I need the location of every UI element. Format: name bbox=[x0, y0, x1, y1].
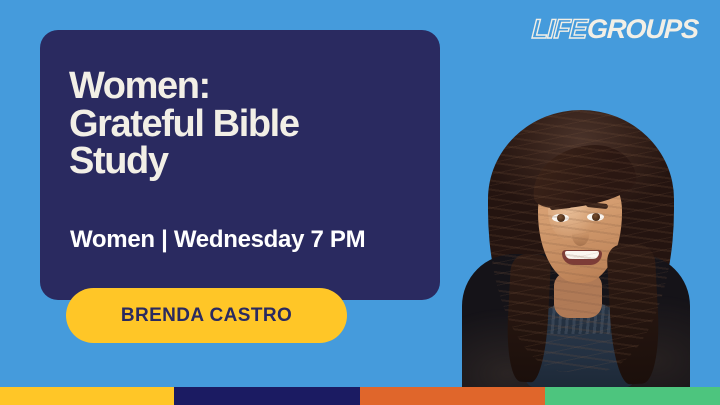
color-bar-segment-yellow bbox=[0, 387, 174, 405]
event-card: Women: Grateful Bible Study Women | Wedn… bbox=[40, 30, 440, 300]
color-bar-segment-navy bbox=[174, 387, 360, 405]
color-bar-segment-green bbox=[545, 387, 720, 405]
logo-life-text: LIFE bbox=[532, 16, 588, 43]
leader-photo-illustration bbox=[462, 104, 690, 387]
color-bar-segment-orange bbox=[360, 387, 545, 405]
leader-name-label: BRENDA CASTRO bbox=[121, 305, 292, 327]
lifegroups-logo: LIFEGROUPS bbox=[532, 16, 698, 43]
logo-groups-text: GROUPS bbox=[586, 16, 698, 43]
brand-color-bar bbox=[0, 387, 720, 405]
event-subtitle: Women | Wednesday 7 PM bbox=[70, 226, 365, 254]
event-title: Women: Grateful Bible Study bbox=[69, 68, 409, 181]
hair-strand-texture bbox=[488, 110, 674, 372]
leader-photo bbox=[462, 104, 690, 387]
leader-name-button[interactable]: BRENDA CASTRO bbox=[66, 288, 347, 343]
promo-graphic: LIFEGROUPS Women: Grateful Bible Study bbox=[0, 0, 720, 405]
